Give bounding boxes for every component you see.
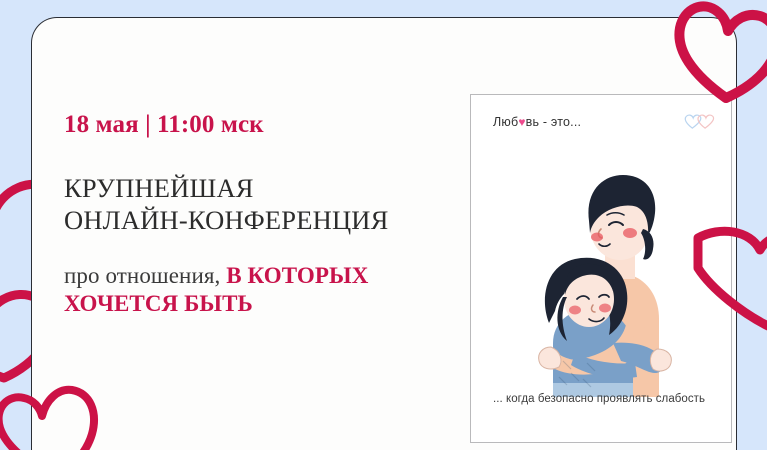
subtitle: про отношения, В КОТОРЫХ ХОЧЕТСЯ БЫТЬ xyxy=(64,262,444,318)
heart-icon: ♥ xyxy=(518,116,525,128)
couple-hugging-illustration xyxy=(517,147,692,397)
event-datetime: 18 мая | 11:00 мск xyxy=(64,111,444,139)
text-content-block: 18 мая | 11:00 мск КРУПНЕЙШАЯ ОНЛАЙН-КОН… xyxy=(64,111,444,318)
promo-card: Люб♥вь - это... xyxy=(470,94,732,443)
promo-card-header: Люб♥вь - это... xyxy=(493,111,717,133)
promo-card-title: Люб♥вь - это... xyxy=(493,115,581,129)
twin-hearts-icon xyxy=(683,112,717,132)
page-title: КРУПНЕЙШАЯ ОНЛАЙН-КОНФЕРЕНЦИЯ xyxy=(64,173,444,237)
main-white-panel: 18 мая | 11:00 мск КРУПНЕЙШАЯ ОНЛАЙН-КОН… xyxy=(31,17,737,450)
headline-line-1: КРУПНЕЙШАЯ xyxy=(64,173,444,205)
poster-canvas: 18 мая | 11:00 мск КРУПНЕЙШАЯ ОНЛАЙН-КОН… xyxy=(0,0,767,450)
subtitle-plain-part: про отношения, xyxy=(64,263,220,288)
promo-card-caption: ... когда безопасно проявлять слабость xyxy=(493,391,713,407)
promo-title-before: Люб xyxy=(493,115,518,129)
promo-title-after: вь - это... xyxy=(526,115,582,129)
headline-line-2: ОНЛАЙН-КОНФЕРЕНЦИЯ xyxy=(64,205,444,237)
